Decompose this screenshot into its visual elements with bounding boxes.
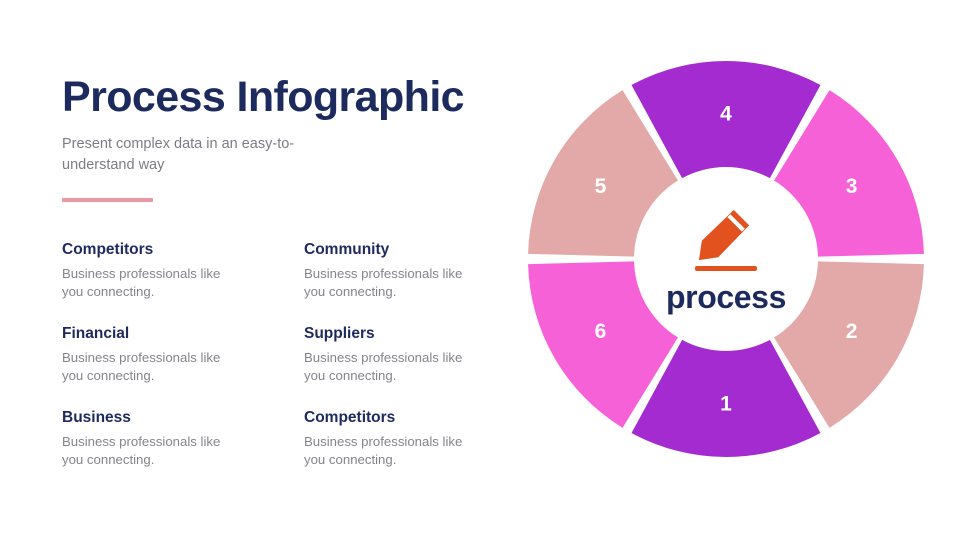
feature-description: Business professionals like you connecti… [62,265,244,302]
feature-title: Competitors [62,241,282,260]
feature-item[interactable]: Competitors Business professionals like … [62,241,282,302]
feature-list: Competitors Business professionals like … [62,241,532,493]
feature-item[interactable]: Community Business professionals like yo… [304,241,524,302]
feature-description: Business professionals like you connecti… [62,433,244,470]
feature-title: Community [304,241,524,260]
page-subtitle: Present complex data in an easy-to-under… [62,134,312,175]
feature-item[interactable]: Business Business professionals like you… [62,409,282,470]
slide-canvas: Process Infographic Present complex data… [0,0,980,551]
header-block: Process Infographic Present complex data… [62,74,502,202]
donut-segment-label-3: 3 [846,175,858,198]
feature-title: Suppliers [304,325,524,344]
feature-title: Competitors [304,409,524,428]
feature-item[interactable]: Competitors Business professionals like … [304,409,524,470]
feature-title: Business [62,409,282,428]
feature-item[interactable]: Suppliers Business professionals like yo… [304,325,524,386]
donut-segment-label-2: 2 [846,320,858,343]
donut-segment-label-6: 6 [595,320,607,343]
feature-description: Business professionals like you connecti… [304,265,486,302]
feature-description: Business professionals like you connecti… [304,349,486,386]
donut-segment-label-1: 1 [720,393,732,416]
feature-description: Business professionals like you connecti… [304,433,486,470]
page-title: Process Infographic [62,74,502,120]
feature-item[interactable]: Financial Business professionals like yo… [62,325,282,386]
donut-segment-label-4: 4 [720,103,732,126]
feature-title: Financial [62,325,282,344]
divider-rule [62,198,153,202]
donut-segment-label-5: 5 [595,175,607,198]
process-donut-chart: 123456 process [528,61,924,457]
donut-svg: 123456 [528,61,924,457]
feature-description: Business professionals like you connecti… [62,349,244,386]
